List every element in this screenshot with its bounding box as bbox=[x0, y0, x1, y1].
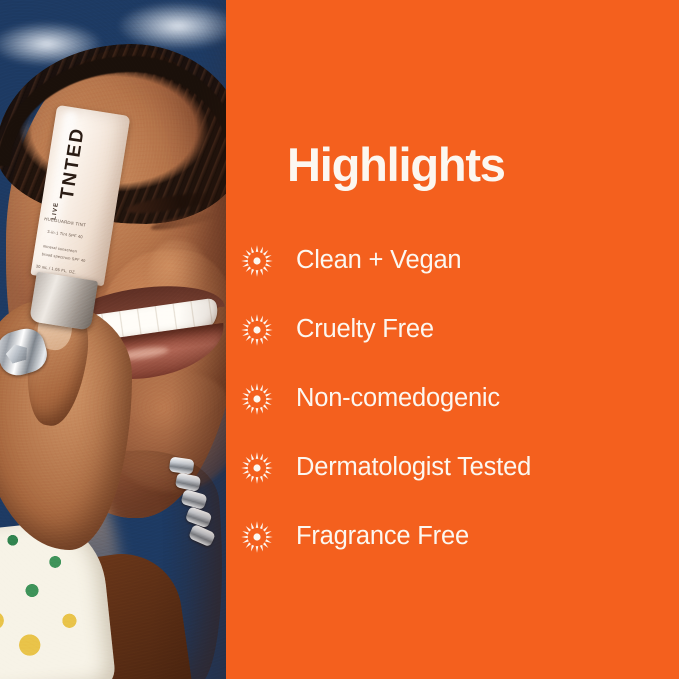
product-lifestyle-photo: TNTED LIVE HUEGUARD® TINT 3-in-1 Tint SP… bbox=[0, 0, 226, 679]
cloud-icon bbox=[118, 2, 226, 50]
chain-link bbox=[188, 524, 216, 547]
list-item: Clean + Vegan bbox=[240, 226, 679, 295]
sunburst-icon bbox=[240, 244, 274, 278]
sunburst-icon bbox=[240, 520, 274, 554]
page-title: Highlights bbox=[287, 141, 505, 188]
highlights-panel: Highlights bbox=[226, 0, 679, 679]
highlight-label: Fragrance Free bbox=[296, 524, 469, 550]
highlight-label: Clean + Vegan bbox=[296, 248, 461, 274]
highlight-label: Cruelty Free bbox=[296, 317, 434, 343]
list-item: Dermatologist Tested bbox=[240, 433, 679, 502]
tube-cap bbox=[29, 272, 98, 331]
list-item: Non-comedogenic bbox=[240, 364, 679, 433]
highlights-banner: TNTED LIVE HUEGUARD® TINT 3-in-1 Tint SP… bbox=[0, 0, 679, 679]
highlight-label: Dermatologist Tested bbox=[296, 455, 531, 481]
chain-link bbox=[169, 456, 195, 474]
sunburst-icon bbox=[240, 382, 274, 416]
list-item: Fragrance Free bbox=[240, 502, 679, 571]
highlight-label: Non-comedogenic bbox=[296, 386, 500, 412]
sunburst-icon bbox=[240, 313, 274, 347]
sunburst-icon bbox=[240, 451, 274, 485]
highlights-list: Clean + Vegan bbox=[240, 226, 679, 571]
photo-stage: TNTED LIVE HUEGUARD® TINT 3-in-1 Tint SP… bbox=[0, 0, 226, 679]
chain-link bbox=[175, 472, 202, 492]
list-item: Cruelty Free bbox=[240, 295, 679, 364]
